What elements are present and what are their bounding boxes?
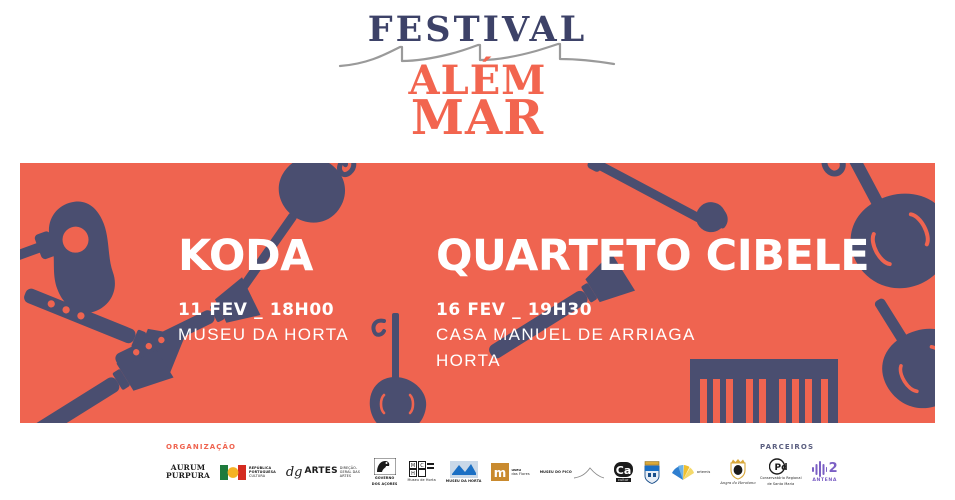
- festival-logo-header: FESTIVAL ALÉM MAR: [0, 0, 955, 160]
- culturgest-wordmark: cultur: [616, 478, 630, 482]
- antena-waveform-icon: [812, 461, 827, 477]
- aurum-purpura-logo[interactable]: AURUM PURPURA: [166, 456, 210, 488]
- aurum-purpura-line2: PURPURA: [166, 472, 210, 480]
- antena-2-logo[interactable]: 2 ANTENA: [812, 456, 838, 488]
- organizacao-logo-row: AURUM PURPURA REPÚBLICA PORTUGUESA: [166, 455, 756, 489]
- artemis-wordmark: artemis: [697, 470, 711, 474]
- parceiros-group: PARCEIROS Pd Conservatório Regional de S…: [760, 443, 838, 489]
- ca-monogram-icon: Ca: [614, 462, 633, 477]
- angra-do-heroismo-crest-logo[interactable]: Angra do Heroísmo: [720, 456, 755, 488]
- event-venue: MUSEU DA HORTA: [178, 324, 349, 347]
- event-title: QUARTETO CIBELE: [436, 235, 869, 278]
- antena-number: 2: [829, 461, 838, 476]
- organizacao-label: ORGANIZAÇÃO: [166, 443, 756, 451]
- museu-da-horta-label: MUSEU DA HORTA: [446, 479, 482, 483]
- organizacao-group: ORGANIZAÇÃO AURUM PURPURA: [166, 443, 756, 489]
- conservatorio-mark-icon: Pd: [769, 458, 793, 475]
- svg-text:M: M: [410, 463, 414, 469]
- governo-line1: GOVERNO: [375, 476, 395, 480]
- parceiros-label: PARCEIROS: [760, 443, 838, 451]
- museu-da-horta-logo[interactable]: MUSEU DA HORTA: [446, 456, 482, 488]
- republica-portuguesa-cultura-logo[interactable]: REPÚBLICA PORTUGUESA CULTURA: [220, 456, 276, 488]
- event-venue-city: HORTA: [436, 350, 869, 373]
- angra-wordmark: Angra do Heroísmo: [720, 481, 755, 485]
- acores-goshawk-icon: [374, 458, 396, 475]
- fan-blades-icon: [671, 463, 695, 481]
- event-datetime: 16 FEV _ 19H30: [436, 300, 869, 321]
- museu-da-horta-mark-icon: [450, 461, 478, 478]
- dgartes-logo[interactable]: dg ARTES DIREÇÃO-GERAL DAS ARTES: [286, 456, 362, 488]
- museu-das-flores-line3: das Flores: [511, 472, 529, 476]
- banner-events: KODA 11 FEV _ 18H00 MUSEU DA HORTA QUART…: [20, 163, 935, 423]
- culturgest-logo[interactable]: Ca cultur: [614, 456, 633, 488]
- camara-municipal-crest-logo[interactable]: [643, 456, 661, 488]
- event-quarteto-cibele: QUARTETO CIBELE 16 FEV _ 19H30 CASA MANU…: [436, 235, 869, 373]
- conservatorio-line2: Conservatório Regional: [760, 476, 802, 480]
- conservatorio-regional-logo[interactable]: Pd Conservatório Regional de Santa Maria: [760, 456, 802, 488]
- museu-das-flores-mark-icon: m: [491, 463, 509, 481]
- mch-subtitle: Museu de Horta: [407, 478, 435, 482]
- dgartes-mark: dg: [286, 465, 303, 480]
- svg-text:C: C: [420, 463, 424, 469]
- museu-do-pico-logo[interactable]: MUSEU DO PICO: [540, 456, 604, 488]
- republica-line3: CULTURA: [249, 474, 265, 478]
- parceiros-logo-row: Pd Conservatório Regional de Santa Maria: [760, 455, 838, 489]
- pico-mountain-icon: [574, 465, 604, 479]
- svg-text:H: H: [411, 471, 415, 477]
- governo-line2: DOS AÇORES: [372, 482, 398, 486]
- event-title: KODA: [178, 235, 349, 278]
- heraldic-crest-icon: [643, 460, 661, 484]
- crown-crest-icon: [727, 458, 749, 480]
- museu-das-flores-logo[interactable]: m useu das Flores: [491, 456, 529, 488]
- governo-dos-acores-logo[interactable]: GOVERNO DOS AÇORES: [372, 456, 398, 488]
- logo-word-mar: MAR: [338, 96, 618, 142]
- conservatorio-line3: de Santa Maria: [767, 482, 794, 486]
- dgartes-wordmark: ARTES: [305, 467, 338, 477]
- mch-logo[interactable]: M C H Museu de Horta: [407, 456, 435, 488]
- svg-text:m: m: [494, 466, 507, 480]
- portugal-flag-icon: [220, 465, 246, 480]
- svg-text:Ca: Ca: [616, 464, 632, 477]
- event-venue: CASA MANUEL DE ARRIAGA: [436, 324, 869, 347]
- festival-logo: FESTIVAL ALÉM MAR: [338, 4, 618, 149]
- footer-logos: ORGANIZAÇÃO AURUM PURPURA: [0, 423, 955, 500]
- artemis-fan-logo[interactable]: artemis: [671, 456, 711, 488]
- event-koda: KODA 11 FEV _ 18H00 MUSEU DA HORTA: [178, 235, 349, 347]
- svg-text:Pd: Pd: [774, 463, 787, 473]
- mch-grid-icon: M C H: [409, 461, 435, 477]
- dgartes-subtitle: DIREÇÃO-GERAL DAS ARTES: [340, 466, 362, 479]
- event-banner: KODA 11 FEV _ 18H00 MUSEU DA HORTA QUART…: [20, 163, 935, 423]
- antena-wordmark: ANTENA: [812, 478, 837, 484]
- museu-do-pico-label: MUSEU DO PICO: [540, 470, 572, 474]
- event-datetime: 11 FEV _ 18H00: [178, 300, 349, 321]
